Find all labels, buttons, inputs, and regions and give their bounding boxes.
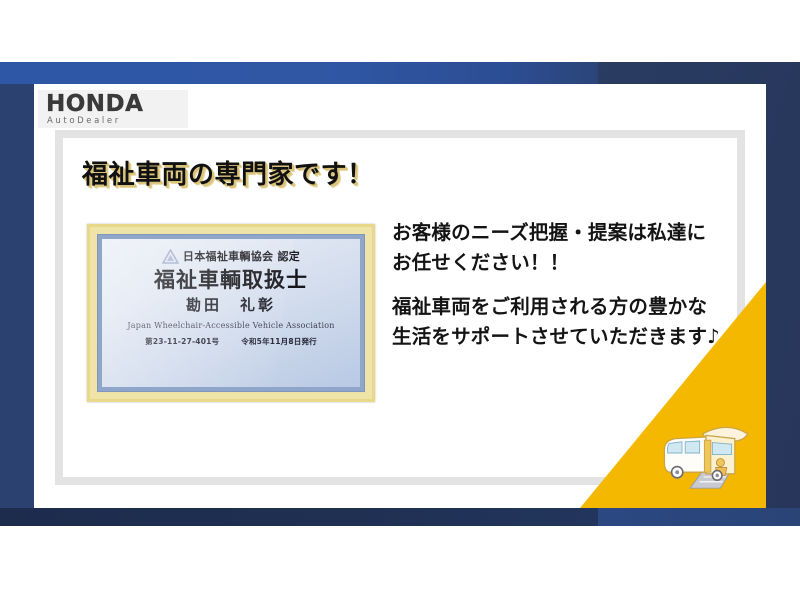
content-card: HONDA AutoDealer 福祉車両の専門家です！ 日本福祉車輌協会 認定… [34, 84, 766, 508]
blue-accent-band-top [0, 62, 598, 84]
honda-wordmark: HONDA [46, 93, 182, 116]
body-paragraph-2: 福祉車両をご利用される方の豊かな生活をサポートさせていただきます♪ [392, 292, 722, 352]
blue-accent-band-bottom-right [598, 508, 800, 526]
certificate-holder-name: 勘田 礼彰 [102, 296, 360, 314]
certificate-issue-date: 令和5年11月8日発行 [241, 336, 317, 347]
wheelchair-accessible-van-icon [658, 416, 754, 490]
honda-autodealer-logo: HONDA AutoDealer [38, 90, 188, 128]
certificate-association-name: 日本福祉車輌協会 認定 [183, 248, 300, 264]
triangle-mark-icon [162, 249, 179, 264]
certificate-title: 福祉車輌取扱士 [102, 268, 360, 292]
body-paragraph-1: お客様のニーズ把握・提案は私達にお任せください！！ [392, 218, 722, 278]
certification-plaque-photo: 日本福祉車輌協会 認定 福祉車輌取扱士 勘田 礼彰 Japan Wheelcha… [87, 224, 375, 402]
certificate-association-row: 日本福祉車輌協会 認定 [102, 248, 360, 264]
certificate-number: 第23-11-27-401号 [145, 336, 219, 347]
certificate-english-association-name: Japan Wheelchair-Accessible Vehicle Asso… [102, 321, 360, 330]
page-title: 福祉車両の専門家です！ [82, 154, 374, 191]
certificate-footer: 第23-11-27-401号 令和5年11月8日発行 [102, 336, 360, 347]
certificate-plate: 日本福祉車輌協会 認定 福祉車輌取扱士 勘田 礼彰 Japan Wheelcha… [98, 235, 364, 391]
blue-accent-band-bottom-left [0, 508, 598, 526]
honda-sub-wordmark: AutoDealer [47, 116, 182, 126]
slide-canvas: HONDA AutoDealer 福祉車両の専門家です！ 日本福祉車輌協会 認定… [0, 0, 800, 600]
body-text-block: お客様のニーズ把握・提案は私達にお任せください！！ 福祉車両をご利用される方の豊… [392, 218, 722, 352]
